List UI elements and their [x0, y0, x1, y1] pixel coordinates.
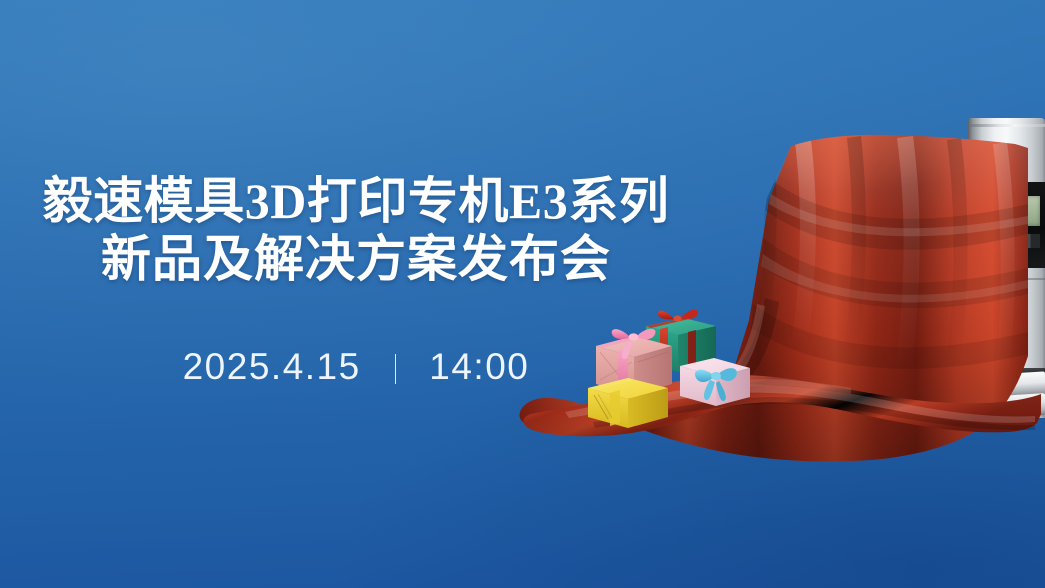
headline: 毅速模具3D打印专机E3系列 新品及解决方案发布会 — [0, 172, 712, 288]
event-date: 2025.4.15 — [183, 346, 361, 387]
headline-line-2: 新品及解决方案发布会 — [0, 230, 712, 288]
datetime-separator — [395, 354, 396, 384]
event-poster: 毅速模具3D打印专机E3系列 新品及解决方案发布会 2025.4.15 | 14… — [0, 0, 1045, 588]
headline-line-1: 毅速模具3D打印专机E3系列 — [0, 172, 712, 230]
event-time: 14:00 — [429, 346, 529, 387]
event-datetime: 2025.4.15 | 14:00 — [0, 344, 712, 390]
